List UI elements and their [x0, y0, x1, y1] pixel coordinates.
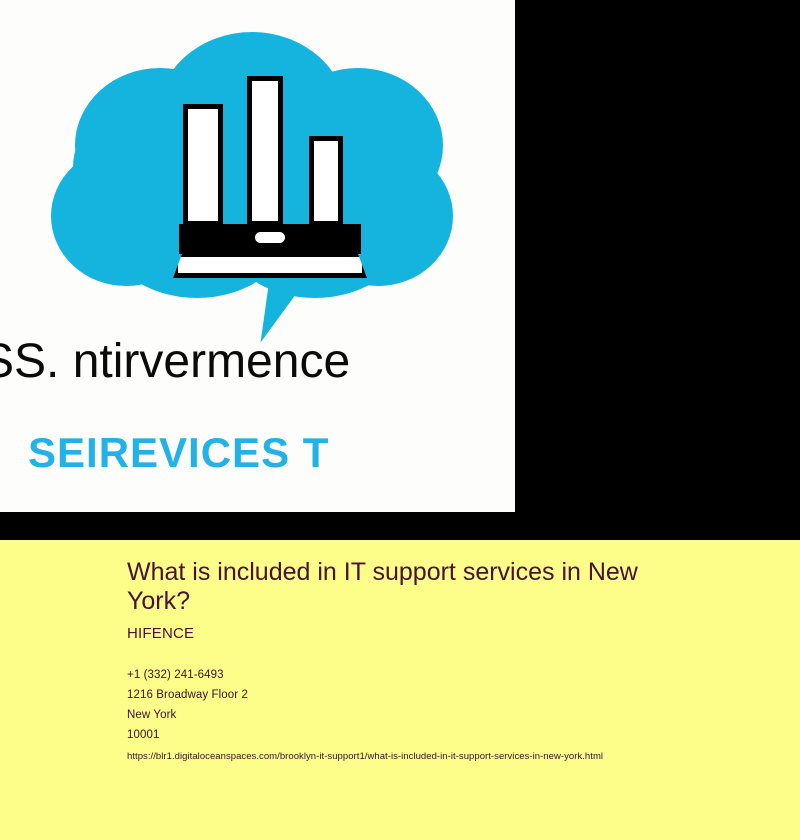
page-root: SS. ntirvermence SEIREVICES T What is in… — [0, 0, 800, 840]
chart-bar — [247, 76, 283, 226]
contact-city: New York — [127, 705, 727, 725]
contact-postal-code: 10001 — [127, 725, 727, 745]
contact-block: +1 (332) 241-6493 1216 Broadway Floor 2 … — [127, 665, 727, 745]
laptop-hinge — [179, 224, 361, 254]
logo-image-panel: SS. ntirvermence SEIREVICES T — [0, 0, 515, 512]
laptop-trackpad — [255, 232, 285, 243]
brand-name: HIFENCE — [127, 625, 727, 642]
contact-phone: +1 (332) 241-6493 — [127, 665, 727, 685]
laptop-base — [173, 252, 367, 278]
logo-wordmark: SS. ntirvermence — [0, 338, 515, 386]
logo-sub-wordmark: SEIREVICES T — [28, 432, 515, 474]
chart-bar — [183, 104, 223, 226]
media-band: SS. ntirvermence SEIREVICES T — [0, 0, 800, 540]
contact-street: 1216 Broadway Floor 2 — [127, 685, 727, 705]
chart-bar — [309, 136, 343, 226]
source-url[interactable]: https://blr1.digitaloceanspaces.com/broo… — [127, 751, 727, 762]
cloud-speech-bubble-icon — [45, 28, 465, 328]
info-panel: What is included in IT support services … — [0, 540, 800, 840]
info-content: What is included in IT support services … — [127, 558, 727, 762]
page-title: What is included in IT support services … — [127, 558, 702, 615]
laptop-bar-chart-icon — [173, 112, 367, 284]
